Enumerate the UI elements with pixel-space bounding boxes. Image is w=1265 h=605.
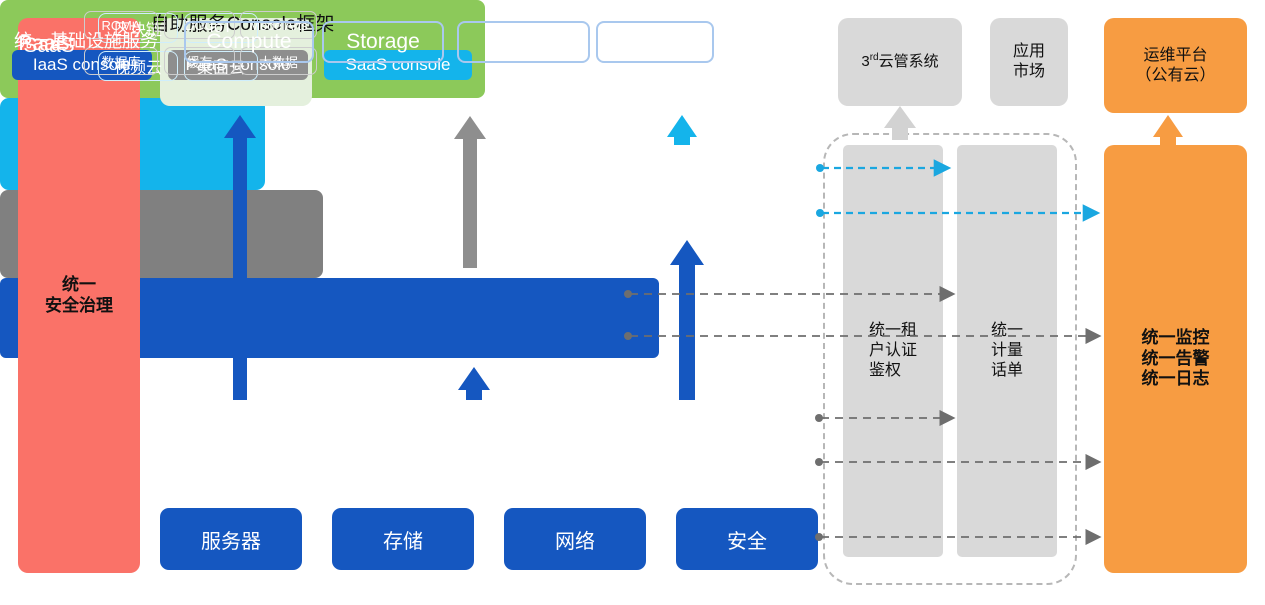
hardware-box-network[interactable]: 网络: [504, 508, 646, 570]
ops-platform-line1: 运维平台: [1135, 46, 1215, 66]
hardware-box-server[interactable]: 服务器: [160, 508, 302, 570]
third-party-superscript: rd: [870, 52, 879, 63]
third-party-suffix: 云管系统: [879, 53, 939, 70]
arrow-paas-to-console: [454, 116, 486, 268]
security-governance-line1: 统一: [45, 275, 113, 296]
auth-line2: 户认证: [869, 341, 917, 361]
arrow-saas-to-console: [667, 115, 697, 145]
metering-line2: 计量: [991, 341, 1023, 361]
ops-platform-header-box: 运维平台 （公有云）: [1104, 18, 1247, 113]
ops-body-line2: 统一告警: [1142, 349, 1210, 370]
auth-line3: 鉴权: [869, 361, 917, 381]
third-party-prefix: 3: [861, 53, 869, 70]
unified-metering-column: 统一 计量 话单: [957, 145, 1057, 557]
metering-line3: 话单: [991, 361, 1023, 381]
metering-line1: 统一: [991, 321, 1023, 341]
app-market-line2: 市场: [1013, 62, 1045, 82]
infra-chip-compute[interactable]: Compute: [184, 21, 314, 63]
ops-body-line3: 统一日志: [1142, 369, 1210, 390]
third-party-cloud-mgmt-box: 3rd云管系统: [838, 18, 962, 106]
auth-line1: 统一租: [869, 321, 917, 341]
app-market-box: 应用 市场: [990, 18, 1068, 106]
security-governance-panel: 统一 安全治理: [18, 18, 140, 573]
infrastructure-layer-label: 统一基础设施服务: [14, 0, 158, 80]
infra-chip-network[interactable]: Network: [457, 21, 590, 63]
ops-body-line1: 统一监控: [1142, 328, 1210, 349]
hardware-box-security[interactable]: 安全: [676, 508, 818, 570]
hardware-box-storage[interactable]: 存储: [332, 508, 474, 570]
security-governance-line2: 安全治理: [45, 296, 113, 317]
app-market-line1: 应用: [1013, 42, 1045, 62]
ops-platform-line2: （公有云）: [1135, 66, 1215, 86]
infra-chip-storage[interactable]: Storage: [322, 21, 444, 63]
ops-platform-body-box: 统一监控 统一告警 统一日志: [1104, 145, 1247, 573]
third-party-cloud-mgmt-label: 3rd云管系统: [861, 52, 938, 71]
arrow-infra-to-paas: [458, 367, 490, 400]
architecture-diagram: 统一 安全治理 API网关 自助服务Console框架 IaaS console…: [0, 0, 1265, 605]
arrow-infra-to-saas: [670, 240, 704, 400]
infra-chip-cce[interactable]: CCE: [596, 21, 714, 63]
arrow-ops-body-to-header: [1153, 115, 1183, 145]
unified-tenant-auth-column: 统一租 户认证 鉴权: [843, 145, 943, 557]
